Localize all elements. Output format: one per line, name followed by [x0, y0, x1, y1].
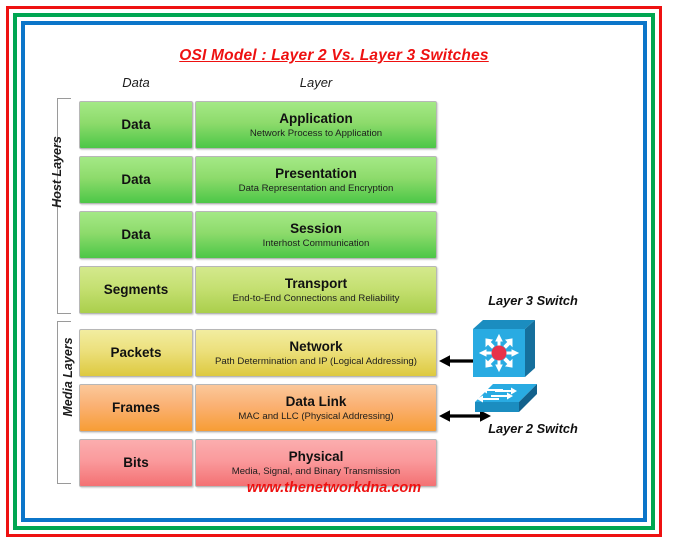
layer-cell: ApplicationNetwork Process to Applicatio…	[195, 101, 437, 149]
pdu-label: Bits	[123, 456, 149, 470]
diagram-title: OSI Model : Layer 2 Vs. Layer 3 Switches	[25, 47, 643, 65]
layer-cell: TransportEnd-to-End Connections and Reli…	[195, 266, 437, 314]
pdu-label: Data	[121, 118, 150, 132]
diagram-canvas: OSI Model : Layer 2 Vs. Layer 3 Switches…	[25, 25, 643, 518]
layer-cell: SessionInterhost Communication	[195, 211, 437, 259]
layer-name: Session	[290, 221, 342, 237]
layer-name: Presentation	[275, 166, 357, 182]
layer-name: Network	[289, 339, 342, 355]
site-url: www.thenetworkdna.com	[25, 480, 643, 496]
layer-description: MAC and LLC (Physical Addressing)	[238, 411, 393, 422]
pdu-label: Frames	[112, 401, 160, 415]
layer-description: End-to-End Connections and Reliability	[233, 293, 400, 304]
layer2-switch-label: Layer 2 Switch	[443, 421, 623, 436]
pdu-cell: Data	[79, 156, 193, 204]
layer2-switch-icon	[467, 380, 543, 422]
layer-name: Transport	[285, 276, 347, 292]
osi-layer-row: DataPresentationData Representation and …	[25, 156, 643, 204]
pdu-label: Segments	[104, 283, 169, 297]
pdu-label: Packets	[110, 346, 161, 360]
layer-description: Data Representation and Encryption	[239, 183, 394, 194]
pdu-label: Data	[121, 173, 150, 187]
layer-name: Physical	[289, 449, 344, 465]
column-header-layer: Layer	[195, 75, 437, 90]
layer-name: Data Link	[286, 394, 347, 410]
osi-layer-row: DataSessionInterhost Communication	[25, 211, 643, 259]
layer-cell: NetworkPath Determination and IP (Logica…	[195, 329, 437, 377]
layer-description: Media, Signal, and Binary Transmission	[232, 466, 401, 477]
pdu-cell: Segments	[79, 266, 193, 314]
layer-description: Path Determination and IP (Logical Addre…	[215, 356, 417, 367]
osi-layer-row: DataApplicationNetwork Process to Applic…	[25, 101, 643, 149]
layer-description: Interhost Communication	[263, 238, 370, 249]
layer-name: Application	[279, 111, 353, 127]
pdu-cell: Data	[79, 101, 193, 149]
layer3-switch-icon	[467, 315, 543, 381]
osi-layer-row: PacketsNetworkPath Determination and IP …	[25, 329, 643, 377]
pdu-cell: Data	[79, 211, 193, 259]
pdu-label: Data	[121, 228, 150, 242]
layer-cell: Data LinkMAC and LLC (Physical Addressin…	[195, 384, 437, 432]
pdu-cell: Packets	[79, 329, 193, 377]
layer-cell: PresentationData Representation and Encr…	[195, 156, 437, 204]
layer3-switch-label: Layer 3 Switch	[443, 293, 623, 308]
column-header-data: Data	[79, 75, 193, 90]
layer-description: Network Process to Application	[250, 128, 382, 139]
pdu-cell: Frames	[79, 384, 193, 432]
